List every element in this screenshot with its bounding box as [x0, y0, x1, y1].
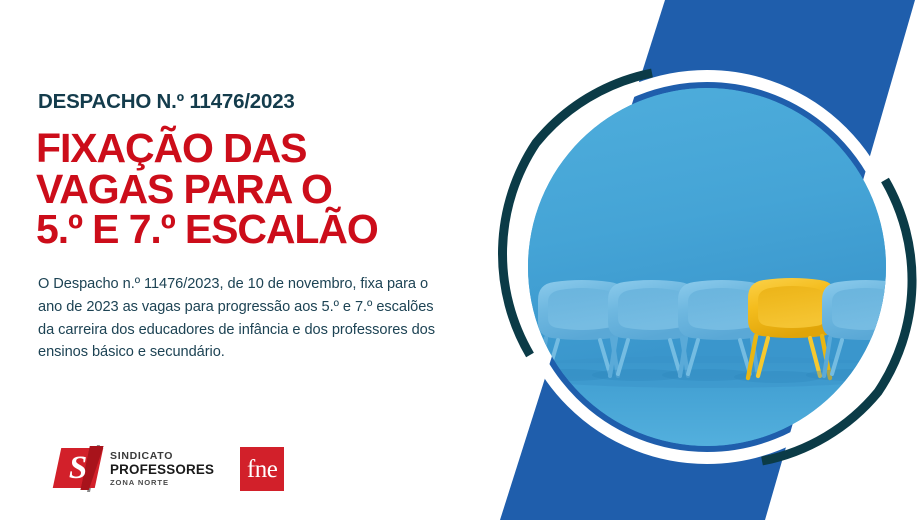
spzn-flag-icon: S: [55, 445, 105, 492]
headline-line-1: FIXAÇÃO DAS: [36, 128, 456, 169]
logo-row: S SINDICATO PROFESSORES ZONA NORTE fne: [55, 445, 284, 492]
fne-wordmark: fne: [240, 447, 284, 491]
spzn-line-zona-norte: ZONA NORTE: [110, 479, 214, 487]
poster-canvas: DESPACHO N.º 11476/2023 FIXAÇÃO DAS VAGA…: [0, 0, 922, 520]
eyebrow-despacho-number: DESPACHO N.º 11476/2023: [38, 90, 295, 114]
spzn-line-sindicato: SINDICATO: [110, 451, 214, 462]
logo-sindicato-professores-zona-norte: S SINDICATO PROFESSORES ZONA NORTE: [55, 445, 214, 492]
page-title: FIXAÇÃO DAS VAGAS PARA O 5.º E 7.º ESCAL…: [36, 128, 456, 250]
right-hero-graphic: [460, 0, 922, 520]
headline-line-2: VAGAS PARA O: [36, 169, 456, 210]
logo-fne: fne: [240, 447, 284, 491]
left-text-panel: DESPACHO N.º 11476/2023 FIXAÇÃO DAS VAGA…: [0, 0, 470, 520]
spzn-line-professores: PROFESSORES: [110, 463, 214, 476]
spzn-s-letter: S: [63, 449, 93, 487]
spzn-wordmark: SINDICATO PROFESSORES ZONA NORTE: [110, 451, 214, 487]
headline-line-3: 5.º E 7.º ESCALÃO: [36, 209, 456, 250]
body-paragraph: O Despacho n.º 11476/2023, de 10 de nove…: [38, 273, 450, 364]
hero-graphic-svg: [460, 0, 922, 520]
